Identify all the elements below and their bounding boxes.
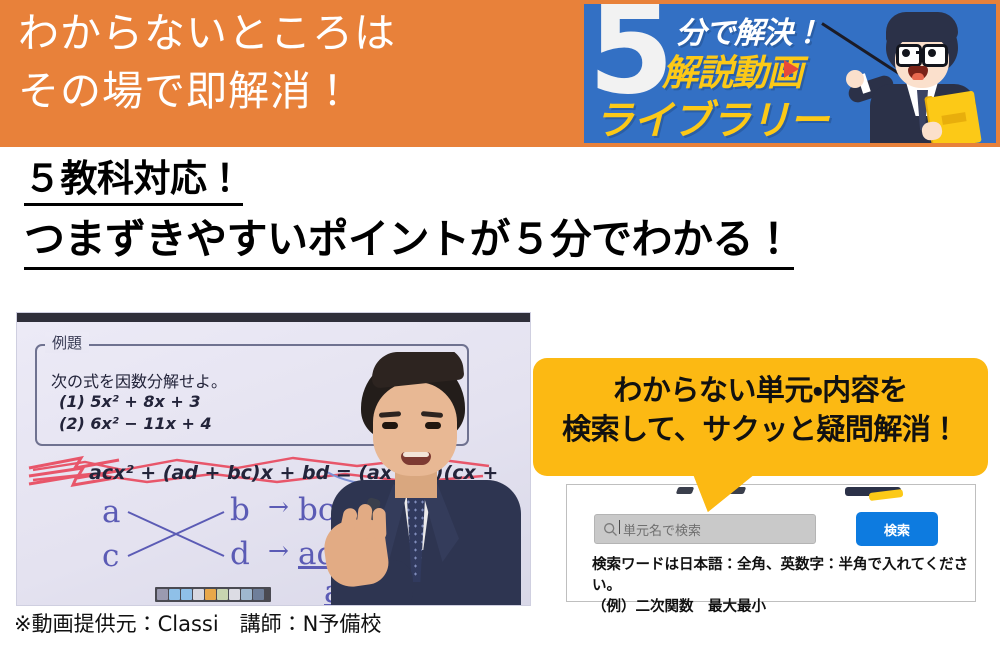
cross-arrow-2: → xyxy=(268,536,289,565)
tool-pointer-icon[interactable] xyxy=(157,589,168,600)
tool-note-icon[interactable] xyxy=(229,589,240,600)
speech-bubble: わからない単元・内容を 検索して、サクッと疑問解消！ xyxy=(533,358,988,476)
teacher-tongue xyxy=(912,73,924,80)
search-icon xyxy=(603,522,618,537)
video-thumbnail[interactable]: 例題 次の式を因数分解せよ。 (1) 5x² + 8x + 3 (2) 6x² … xyxy=(17,313,530,605)
teacher-eye-right xyxy=(928,49,936,57)
promo-banner: 5 分で解決！ 解説動画 ライブラリー xyxy=(584,4,996,143)
search-input[interactable]: 単元名で検索 xyxy=(594,514,816,544)
partial-logo-graphic xyxy=(607,487,937,501)
video-credit: ※動画提供元：Classi 講師：N予備校 xyxy=(14,608,381,638)
cross-letter-b: b xyxy=(230,492,250,528)
tool-marker-icon[interactable] xyxy=(205,589,216,600)
instructor-eye-left xyxy=(382,422,398,429)
tool-eraser-icon[interactable] xyxy=(193,589,204,600)
example-problem-2: (2) 6x² − 11x + 4 xyxy=(59,414,212,433)
tool-pen-icon[interactable] xyxy=(169,589,180,600)
cross-arrow-1: → xyxy=(268,492,289,521)
instructor-photo xyxy=(317,352,530,605)
video-top-edge xyxy=(17,313,530,322)
cross-letter-a: a xyxy=(102,494,120,530)
headline-line-1: ５教科対応！ xyxy=(24,155,243,206)
instructor-eye-right xyxy=(425,422,441,429)
header-title: わからないところは その場で即解消！ xyxy=(18,4,578,120)
example-problem-1: (1) 5x² + 8x + 3 xyxy=(59,392,200,411)
cross-letter-d: d xyxy=(230,536,250,572)
headline-block: ５教科対応！ つまずきやすいポイントが５分でわかる！ xyxy=(24,155,974,270)
banner-line-3: ライブラリー xyxy=(594,88,828,143)
logo-stroke-1 xyxy=(676,487,695,494)
search-placeholder: 単元名で検索 xyxy=(623,520,701,539)
example-label: 例題 xyxy=(45,332,89,353)
tool-zoom-icon[interactable] xyxy=(253,589,264,600)
glasses-bridge xyxy=(916,51,922,54)
cross-letter-c: c xyxy=(102,538,119,574)
teacher-fringe xyxy=(886,12,958,42)
instructor-teeth xyxy=(403,452,429,457)
teacher-hand xyxy=(846,70,864,88)
tool-shape-icon[interactable] xyxy=(217,589,228,600)
speech-bubble-text: わからない単元・内容を 検索して、サクッと疑問解消！ xyxy=(533,372,988,450)
search-button[interactable]: 検索 xyxy=(856,512,938,546)
whiteboard-annotation-toolbar[interactable] xyxy=(155,587,271,602)
search-row: 単元名で検索 検索 xyxy=(594,512,938,546)
tool-highlighter-icon[interactable] xyxy=(181,589,192,600)
play-icon xyxy=(784,60,799,78)
teacher-eye-left xyxy=(902,49,910,57)
headline-line-2: つまずきやすいポイントが５分でわかる！ xyxy=(24,213,794,269)
search-card: 単元名で検索 検索 検索ワードは日本語：全角、英数字：半角で入れてください。 （… xyxy=(566,484,976,602)
whiteboard-background: 例題 次の式を因数分解せよ。 (1) 5x² + 8x + 3 (2) 6x² … xyxy=(17,322,530,605)
teacher-illustration xyxy=(846,6,996,143)
tool-settings-icon[interactable] xyxy=(241,589,252,600)
search-hint-text: 検索ワードは日本語：全角、英数字：半角で入れてください。 （例）二次関数 最大最… xyxy=(592,555,975,618)
example-question: 次の式を因数分解せよ。 xyxy=(51,368,227,392)
instructor-finger-3 xyxy=(372,508,386,540)
